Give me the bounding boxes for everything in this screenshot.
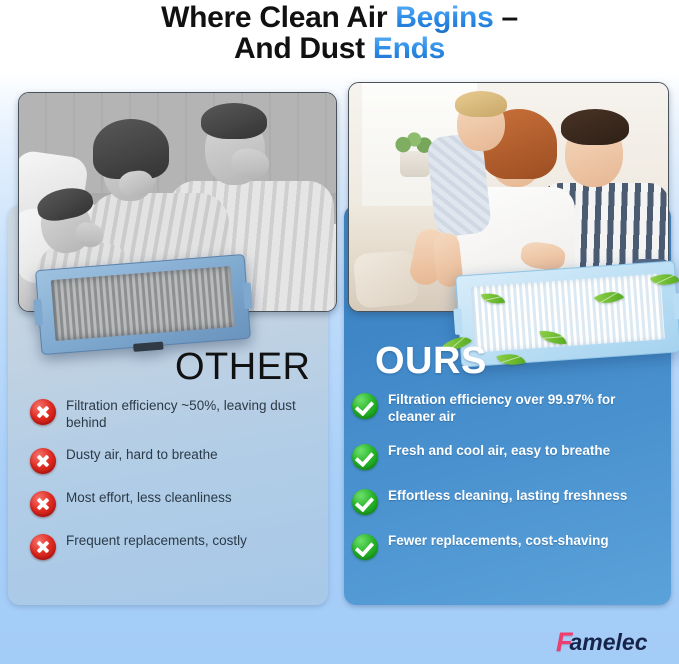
filter-tab [673,293,679,319]
list-item: Fewer replacements, cost-shaving [352,533,664,560]
x-mark-icon [30,534,56,560]
x-mark-icon [30,399,56,425]
man-hair [561,109,629,145]
other-feature-list: Filtration efficiency ~50%, leaving dust… [30,398,320,576]
check-mark-icon [352,489,378,515]
plant-pot [400,151,430,177]
title-line2-accent: Ends [373,32,445,65]
ours-filter-product [455,260,679,367]
page-title: Where Clean Air Begins – And Dust Ends [0,2,679,64]
x-mark-icon [30,491,56,517]
woman-hair [93,119,169,179]
list-item-label: Filtration efficiency over 99.97% for cl… [388,392,664,425]
ours-feature-list: Filtration efficiency over 99.97% for cl… [352,392,664,578]
list-item-label: Frequent replacements, costly [66,533,247,550]
logo-name: amelec [570,631,648,654]
list-item: Filtration efficiency ~50%, leaving dust… [30,398,320,431]
list-item: Fresh and cool air, easy to breathe [352,443,664,470]
check-mark-icon [352,393,378,419]
list-item: Frequent replacements, costly [30,533,320,560]
title-line1-accent: Begins [395,1,493,34]
list-item: Filtration efficiency over 99.97% for cl… [352,392,664,425]
list-item-label: Effortless cleaning, lasting freshness [388,488,627,505]
list-item: Dusty air, hard to breathe [30,447,320,474]
baby-hair [455,91,507,117]
list-item-label: Fewer replacements, cost-shaving [388,533,609,550]
title-line2-plain: And Dust [234,32,373,65]
title-line2: And Dust Ends [0,33,679,64]
filter-tab [453,309,463,335]
x-mark-icon [30,448,56,474]
cushion [353,250,419,309]
man-hair [201,103,267,139]
list-item: Effortless cleaning, lasting freshness [352,488,664,515]
comparison-infographic: Where Clean Air Begins – And Dust Ends [0,0,679,664]
list-item-label: Dusty air, hard to breathe [66,447,218,464]
other-heading: OTHER [175,348,311,386]
ours-heading: OURS [375,342,487,380]
list-item-label: Filtration efficiency ~50%, leaving dust… [66,398,320,431]
list-item-label: Most effort, less cleanliness [66,490,232,507]
list-item-label: Fresh and cool air, easy to breathe [388,443,610,460]
brand-logo: F amelec [556,628,648,656]
other-filter-product [35,254,251,355]
check-mark-icon [352,444,378,470]
filter-mesh [471,273,664,352]
list-item: Most effort, less cleanliness [30,490,320,517]
title-line1-tail: – [493,1,517,34]
check-mark-icon [352,534,378,560]
title-line1-plain: Where Clean Air [161,1,395,34]
